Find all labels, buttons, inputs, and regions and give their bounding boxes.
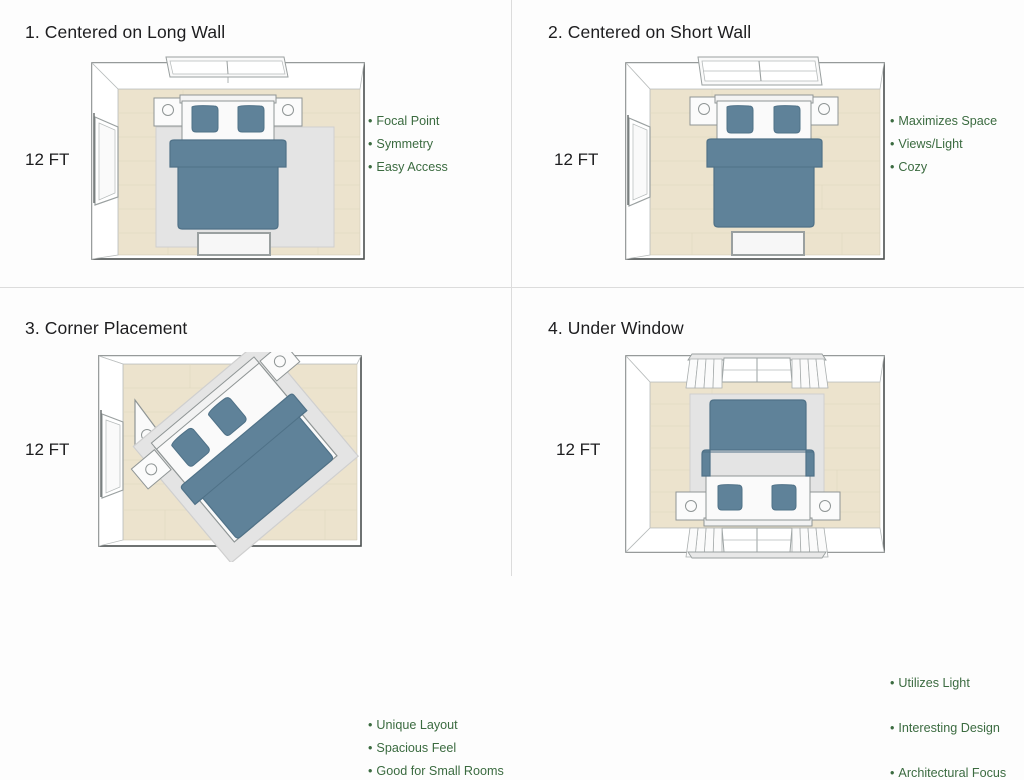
panel-2-dimension-label: 12 FT	[554, 150, 598, 170]
pillow-left	[192, 106, 218, 132]
pillow-right	[774, 106, 800, 133]
bullet-item: •Symmetry	[368, 137, 448, 151]
nightstand-right	[274, 98, 302, 126]
window-bottom-with-curtains	[686, 528, 828, 558]
bullet-item: •Utilizes Light	[890, 676, 1006, 690]
bullet-item: •Spacious Feel	[368, 741, 504, 755]
nightstand-right	[810, 97, 838, 125]
panel-3-benefits: •Unique Layout •Spacious Feel •Good for …	[368, 718, 504, 778]
panel-3-title: 3. Corner Placement	[25, 318, 187, 339]
curtain-right	[792, 359, 828, 388]
panel-2-title: 2. Centered on Short Wall	[548, 22, 751, 43]
bullet-item: •Cozy	[890, 160, 997, 174]
door-left	[94, 113, 118, 205]
panel-2-benefits: •Maximizes Space •Views/Light •Cozy	[890, 114, 997, 174]
panel-4-title: 4. Under Window	[548, 318, 684, 339]
nightstand-left	[154, 98, 182, 126]
bench-foot-of-bed	[732, 232, 804, 255]
panel-1-floorplan	[88, 55, 388, 270]
pillow-right	[238, 106, 264, 132]
pillow-left	[718, 485, 742, 510]
panel-centered-long-wall: 1. Centered on Long Wall 12 FT	[0, 0, 512, 288]
panel-centered-short-wall: 2. Centered on Short Wall 12 FT	[512, 0, 1024, 288]
panel-under-window: 4. Under Window 12 FT	[512, 288, 1024, 576]
panel-1-title: 1. Centered on Long Wall	[25, 22, 225, 43]
panel-corner-placement: 3. Corner Placement 12 FT	[0, 288, 512, 576]
bullet-item: •Good for Small Rooms	[368, 764, 504, 778]
door-left	[628, 115, 650, 206]
bullet-item: •Easy Access	[368, 160, 448, 174]
bullet-item: •Architectural Focus	[890, 766, 1006, 780]
bullet-item: •Maximizes Space	[890, 114, 997, 128]
panel-3-floorplan	[95, 352, 395, 562]
duvet	[170, 140, 286, 229]
bullet-item: •Views/Light	[890, 137, 997, 151]
horizontal-divider	[0, 287, 1024, 288]
panel-1-dimension-label: 12 FT	[25, 150, 69, 170]
panel-4-dimension-label: 12 FT	[556, 440, 600, 460]
duvet	[707, 139, 822, 227]
bullet-item: •Focal Point	[368, 114, 448, 128]
panel-3-dimension-label: 12 FT	[25, 440, 69, 460]
pillow-right	[772, 485, 796, 510]
panel-1-benefits: •Focal Point •Symmetry •Easy Access	[368, 114, 448, 174]
bench-foot-of-bed	[198, 233, 270, 255]
curtain-left	[686, 359, 722, 388]
panel-4-benefits: •Utilizes Light •Interesting Design •Arc…	[890, 676, 1006, 780]
nightstand-left	[676, 492, 706, 520]
nightstand-right	[810, 492, 840, 520]
panel-2-floorplan	[622, 55, 912, 270]
bullet-item: •Interesting Design	[890, 721, 1006, 735]
window-top	[698, 57, 822, 85]
bullet-item: •Unique Layout	[368, 718, 504, 732]
pillow-left	[727, 106, 753, 133]
panel-4-floorplan	[622, 352, 912, 567]
nightstand-left	[690, 97, 718, 125]
door-left	[101, 410, 123, 498]
